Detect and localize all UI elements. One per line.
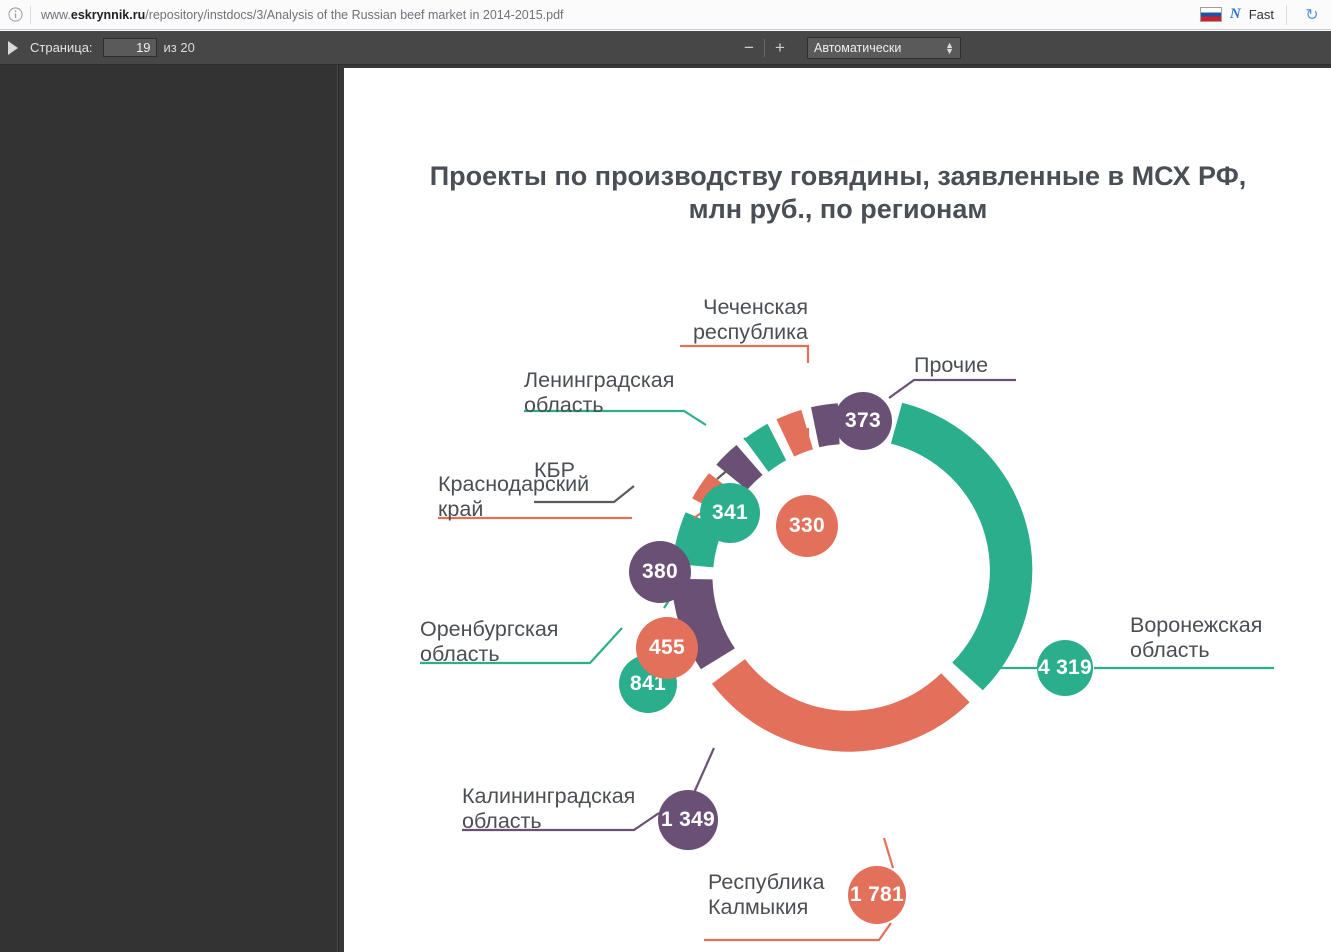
- page-label: Страница:: [30, 40, 93, 55]
- url-prefix: www.: [41, 8, 71, 22]
- page-total-label: из 20: [164, 40, 195, 55]
- label-krasnodar-line2: край: [438, 497, 668, 522]
- label-kaliningrad-line1: Калининградская: [462, 784, 712, 809]
- zoom-level-select[interactable]: Автоматически ▲▼: [807, 37, 961, 59]
- label-kalmykia-line2: Калмыкия: [708, 895, 918, 920]
- pdf-toolbar: Страница: из 20 − + Автоматически ▲▼: [0, 31, 1331, 65]
- bubble-leningrad[interactable]: 341: [700, 483, 760, 543]
- label-chechnya-line1: Чеченская: [608, 295, 808, 320]
- zoom-in-button[interactable]: +: [767, 35, 793, 61]
- bubble-voronezh[interactable]: 4 319: [1037, 640, 1093, 696]
- label-kaliningrad-line2: область: [462, 809, 712, 834]
- actions-divider: [1286, 5, 1287, 25]
- bubble-value-leningrad: 341: [712, 501, 748, 525]
- label-other: Прочие: [914, 353, 1094, 378]
- zoom-level-value: Автоматически: [814, 41, 945, 55]
- label-orenburg-line2: область: [420, 642, 650, 667]
- sidebar-edge: [337, 65, 338, 952]
- label-kaliningrad: Калининградская область: [462, 784, 712, 834]
- fast-label[interactable]: Fast: [1249, 7, 1274, 22]
- bubble-value-kbr: 380: [642, 560, 678, 584]
- russian-flag-icon: [1200, 7, 1222, 22]
- label-kalmykia: Республика Калмыкия: [708, 870, 918, 920]
- label-chechnya: Чеченская республика: [608, 295, 808, 345]
- label-leningrad-line2: область: [524, 393, 774, 418]
- bubble-chechnya[interactable]: 330: [776, 495, 838, 557]
- bubble-kbr[interactable]: 380: [629, 541, 691, 603]
- donut-segments: [672, 403, 1033, 752]
- url-domain: eskrynnik.ru: [71, 8, 145, 22]
- zoom-out-button[interactable]: −: [736, 35, 762, 61]
- donut-chart: 4 319 1 781 1 349 841 455 380 341 330: [344, 68, 1331, 952]
- label-chechnya-line2: республика: [608, 320, 808, 345]
- url-bar-actions: N Fast ↻: [1200, 0, 1331, 30]
- bubble-value-other: 373: [845, 409, 881, 433]
- sidebar-toggle-icon[interactable]: [0, 31, 26, 65]
- site-info-icon[interactable]: [0, 0, 30, 30]
- pdf-page: Проекты по производству говядины, заявле…: [344, 68, 1331, 952]
- pdf-viewer: Проекты по производству говядины, заявле…: [0, 65, 1331, 952]
- zoom-controls: − + Автоматически ▲▼: [736, 31, 961, 65]
- segment-voronezh[interactable]: [891, 403, 1032, 691]
- url-text[interactable]: www.eskrynnik.ru/repository/instdocs/3/A…: [31, 8, 1200, 22]
- segment-kalmykia[interactable]: [712, 659, 970, 752]
- bubble-value-krasnodar: 455: [649, 636, 685, 660]
- label-orenburg-line1: Оренбургская: [420, 617, 650, 642]
- label-orenburg: Оренбургская область: [420, 617, 650, 667]
- chevron-updown-icon: ▲▼: [945, 42, 954, 54]
- leader-leningrad: [524, 411, 764, 459]
- label-kalmykia-line1: Республика: [708, 870, 918, 895]
- reload-icon[interactable]: ↻: [1299, 2, 1325, 28]
- label-voronezh-line2: область: [1130, 638, 1330, 663]
- url-path: /repository/instdocs/3/Analysis of the R…: [145, 8, 563, 22]
- label-leningrad-line1: Ленинградская: [524, 368, 774, 393]
- label-voronezh-line1: Воронежская: [1130, 613, 1330, 638]
- pdf-thumbnail-sidebar[interactable]: [0, 65, 339, 952]
- bubble-value-voronezh: 4 319: [1038, 656, 1092, 680]
- bubble-other[interactable]: 373: [834, 392, 892, 450]
- bubble-value-chechnya: 330: [789, 514, 825, 538]
- fast-lightning-icon: N: [1230, 6, 1241, 23]
- zoom-divider: [764, 39, 765, 57]
- label-other-line1: Прочие: [914, 353, 1094, 378]
- page-number-input[interactable]: [103, 38, 157, 57]
- label-kbr: КБР: [534, 458, 694, 483]
- label-voronezh: Воронежская область: [1130, 613, 1330, 663]
- label-leningrad: Ленинградская область: [524, 368, 774, 418]
- label-kbr-line1: КБР: [534, 458, 694, 483]
- browser-url-bar: www.eskrynnik.ru/repository/instdocs/3/A…: [0, 0, 1331, 30]
